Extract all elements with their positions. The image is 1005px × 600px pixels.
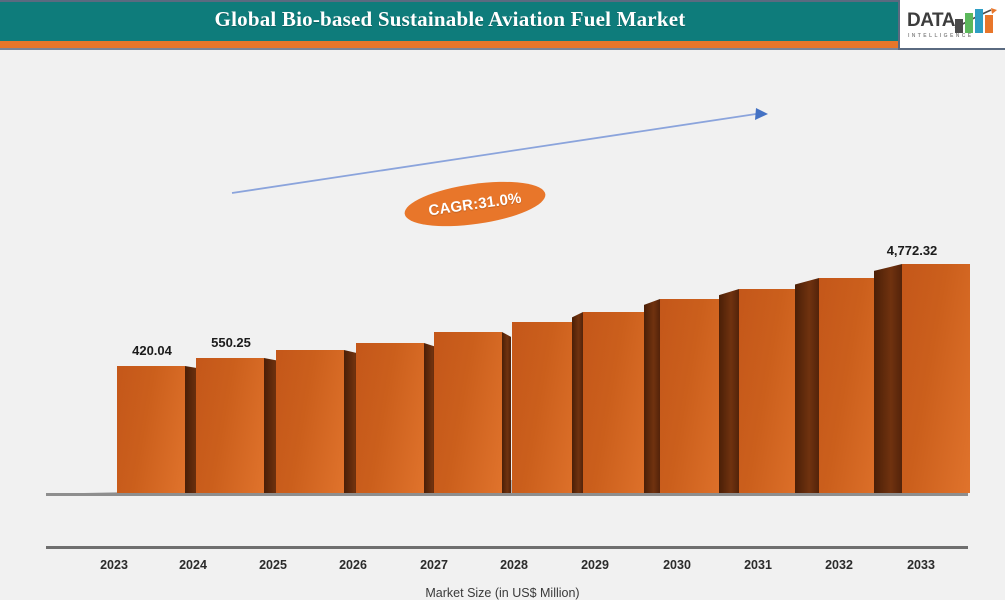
x-tick-2031: 2031 [728, 558, 788, 572]
chart-plot-area: CAGR:31.0% 420.04550.254,772.32 20232024… [0, 53, 1005, 565]
bar-side-face [719, 289, 739, 493]
bar-2033 [902, 264, 970, 493]
x-tick-2027: 2027 [404, 558, 464, 572]
bar-front-face [512, 322, 580, 493]
bar-front-face [356, 343, 424, 493]
logo-tagline: INTELLIGENCE [908, 33, 973, 39]
bar-front-face [660, 299, 728, 493]
bar-value-label-2024: 550.25 [189, 335, 273, 350]
brand-logo[interactable]: DATA INTELLIGENCE [898, 0, 1005, 50]
bar-value-label-2033: 4,772.32 [870, 243, 954, 258]
bar-2029 [583, 312, 651, 493]
bar-front-face [434, 332, 502, 493]
x-axis-title: Market Size (in US$ Million) [0, 586, 1005, 600]
bar-value-label-2023: 420.04 [110, 343, 194, 358]
x-tick-2026: 2026 [323, 558, 383, 572]
logo-inner: DATA INTELLIGENCE [907, 9, 1001, 43]
x-tick-2023: 2023 [84, 558, 144, 572]
x-axis-line [46, 546, 968, 549]
logo-bar-4 [985, 15, 993, 33]
page-title: Global Bio-based Sustainable Aviation Fu… [0, 7, 900, 32]
bar-side-face [572, 312, 583, 493]
page-header: Global Bio-based Sustainable Aviation Fu… [0, 0, 1005, 53]
bar-2030 [660, 299, 728, 493]
bar-2027 [434, 332, 502, 493]
bar-front-face [196, 358, 264, 493]
bar-side-face [874, 264, 902, 493]
x-tick-2025: 2025 [243, 558, 303, 572]
bar-front-face [276, 350, 344, 493]
bar-front-face [117, 366, 185, 493]
bar-2028 [512, 322, 580, 493]
logo-wordmark: DATA [907, 10, 955, 32]
header-accent-stripe [0, 41, 1005, 48]
chart-page: Global Bio-based Sustainable Aviation Fu… [0, 0, 1005, 565]
logo-bar-3 [975, 9, 983, 33]
x-tick-2024: 2024 [163, 558, 223, 572]
bar-front-face [902, 264, 970, 493]
bar-2023 [117, 366, 185, 493]
x-tick-2028: 2028 [484, 558, 544, 572]
x-tick-2033: 2033 [891, 558, 951, 572]
header-divider [0, 48, 1005, 50]
bar-side-face [795, 278, 819, 493]
bar-side-face [502, 332, 511, 493]
bar-2026 [356, 343, 424, 493]
logo-bar-2 [965, 13, 973, 33]
bar-2024 [196, 358, 264, 493]
x-tick-2030: 2030 [647, 558, 707, 572]
bar-2025 [276, 350, 344, 493]
bar-series: 420.04550.254,772.32 [0, 53, 1005, 565]
logo-bar-1 [955, 19, 963, 33]
bar-side-face [644, 299, 660, 493]
x-tick-2032: 2032 [809, 558, 869, 572]
x-tick-2029: 2029 [565, 558, 625, 572]
logo-bar-icons [955, 9, 997, 33]
bar-front-face [583, 312, 651, 493]
